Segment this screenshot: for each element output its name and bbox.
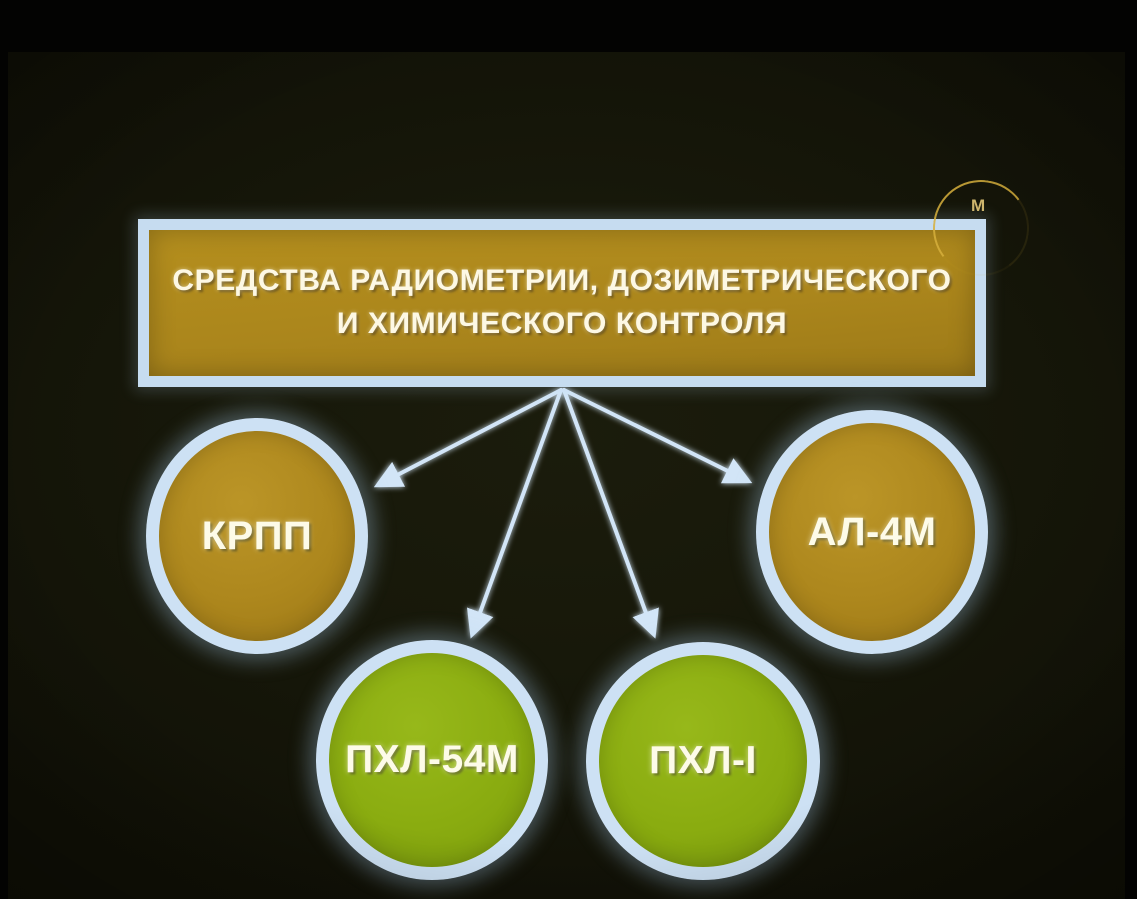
emblem-letter: М bbox=[971, 196, 985, 216]
letterbox-right bbox=[1125, 0, 1137, 899]
arrow-to-al4m bbox=[564, 390, 746, 480]
node-pxl1: ПХЛ-I bbox=[586, 642, 820, 880]
slide-canvas: СРЕДСТВА РАДИОМЕТРИИ, ДОЗИМЕТРИЧЕСКОГО И… bbox=[8, 52, 1125, 899]
arrow-to-pxl54m bbox=[473, 390, 561, 632]
page-title: СРЕДСТВА РАДИОМЕТРИИ, ДОЗИМЕТРИЧЕСКОГО И… bbox=[158, 260, 965, 345]
letterbox-top bbox=[0, 0, 1137, 52]
arrow-to-krpp bbox=[380, 390, 561, 484]
arrow-to-pxl1 bbox=[564, 390, 653, 632]
node-al4m: АЛ-4М bbox=[756, 410, 988, 654]
node-pxl1-label: ПХЛ-I bbox=[649, 739, 757, 783]
node-pxl54m: ПХЛ-54М bbox=[316, 640, 548, 880]
slide-title-banner: СРЕДСТВА РАДИОМЕТРИИ, ДОЗИМЕТРИЧЕСКОГО И… bbox=[138, 219, 986, 387]
node-krpp-label: КРПП bbox=[202, 514, 313, 559]
node-krpp: КРПП bbox=[146, 418, 368, 654]
node-al4m-label: АЛ-4М bbox=[808, 510, 937, 555]
projected-slide-photo: СРЕДСТВА РАДИОМЕТРИИ, ДОЗИМЕТРИЧЕСКОГО И… bbox=[0, 0, 1137, 899]
letterbox-left bbox=[0, 0, 8, 899]
node-pxl54m-label: ПХЛ-54М bbox=[345, 738, 519, 782]
